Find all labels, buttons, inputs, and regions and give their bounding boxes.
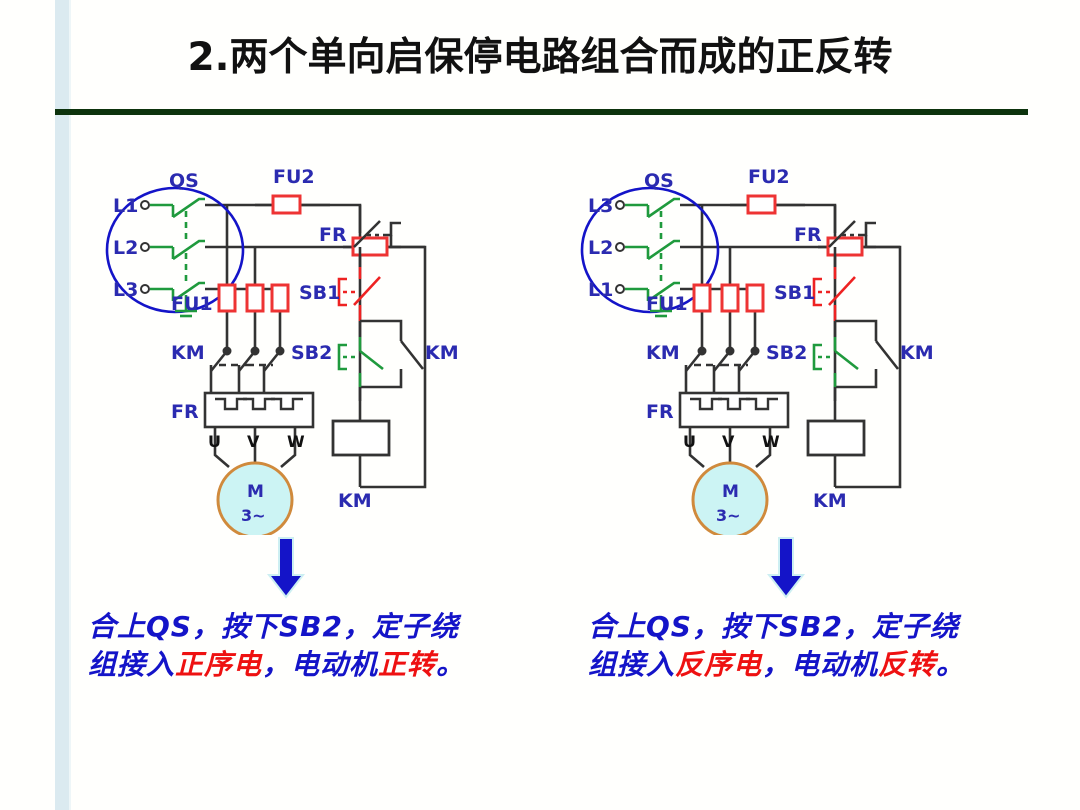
title-underline-rule	[55, 109, 1028, 115]
caption-reverse-line2-b: ，电动机	[762, 648, 878, 681]
km-main-label: KM	[646, 342, 680, 364]
fr-contact-label: FR	[794, 224, 822, 246]
motor-terminal-u: U	[208, 432, 221, 451]
fu1-fuses	[694, 285, 763, 311]
fu1-label: FU1	[171, 293, 213, 315]
motor-terminal-u: U	[683, 432, 696, 451]
caption-forward-line2: 组接入正序电，电动机正转。	[88, 646, 508, 684]
caption-reverse-line1: 合上QS，按下SB2，定子绕	[588, 608, 1008, 646]
reverse-rotation-circuit: L3 L2 L1 QS FU2 FU1	[570, 155, 1040, 535]
caption-reverse-line2-c: 。	[936, 648, 965, 681]
caption-reverse-line1-text: 合上QS，按下SB2，定子绕	[588, 610, 959, 643]
slide-canvas: 2.两个单向启保停电路组合而成的正反转	[0, 0, 1080, 810]
caption-reverse-line2-a: 组接入	[588, 648, 675, 681]
fu1-label: FU1	[646, 293, 688, 315]
caption-forward-highlight-1: 正序电	[175, 648, 262, 681]
control-parallel-node	[835, 321, 876, 387]
forward-rotation-circuit: L1 L2 L3 QS FU2 FU1	[95, 155, 565, 535]
caption-forward-line2-b: ，电动机	[262, 648, 378, 681]
sb2-label: SB2	[766, 342, 807, 364]
caption-forward-highlight-2: 正转	[378, 648, 436, 681]
motor-terminal-v: V	[247, 432, 260, 451]
fr-label: FR	[171, 401, 199, 423]
left-decorative-stripe-inner	[69, 0, 71, 810]
caption-forward-line2-c: 。	[436, 648, 465, 681]
fr-contact-label: FR	[319, 224, 347, 246]
phase-label-3: L3	[113, 279, 138, 301]
caption-forward-line1-text: 合上QS，按下SB2，定子绕	[88, 610, 459, 643]
caption-forward: 合上QS，按下SB2，定子绕 组接入正序电，电动机正转。	[88, 608, 508, 684]
sb1-label: SB1	[774, 282, 815, 304]
motor-symbol: M	[247, 482, 264, 502]
phase-label-2: L2	[113, 237, 138, 259]
caption-forward-line1: 合上QS，按下SB2，定子绕	[88, 608, 508, 646]
km-aux-contact[interactable]	[876, 341, 898, 369]
caption-reverse-highlight-2: 反转	[878, 648, 936, 681]
caption-forward-line2-a: 组接入	[88, 648, 175, 681]
caption-reverse-line2: 组接入反序电，电动机反转。	[588, 646, 1008, 684]
down-arrow-left	[266, 537, 306, 599]
qs-label: QS	[644, 170, 674, 192]
km-main-contacts[interactable]	[211, 348, 283, 399]
phase-terminals	[616, 201, 624, 293]
phase-label-3: L1	[588, 279, 613, 301]
km-aux-label: KM	[900, 342, 934, 364]
down-arrow-right	[766, 537, 806, 599]
phase-label-1: L3	[588, 195, 613, 217]
phase-terminals	[141, 201, 149, 293]
km-main-contacts[interactable]	[686, 348, 758, 399]
motor-phase-label: 3~	[241, 506, 266, 525]
left-decorative-stripe	[55, 0, 69, 810]
fr-label: FR	[646, 401, 674, 423]
phase-label-2: L2	[588, 237, 613, 259]
km-main-label: KM	[171, 342, 205, 364]
qs-label: QS	[169, 170, 199, 192]
km-coil-body	[333, 421, 389, 455]
km-coil-label: KM	[813, 490, 847, 512]
fu2-label: FU2	[273, 166, 315, 188]
caption-reverse: 合上QS，按下SB2，定子绕 组接入反序电，电动机反转。	[588, 608, 1008, 684]
km-coil-label: KM	[338, 490, 372, 512]
control-parallel-node	[360, 321, 401, 387]
sb2-label: SB2	[291, 342, 332, 364]
page-title: 2.两个单向启保停电路组合而成的正反转	[0, 26, 1080, 82]
motor-symbol: M	[722, 482, 739, 502]
fu1-fuses	[219, 285, 288, 311]
motor-terminal-w: W	[287, 432, 305, 451]
fu2-label: FU2	[748, 166, 790, 188]
km-coil-body	[808, 421, 864, 455]
km-aux-contact[interactable]	[401, 341, 423, 369]
motor-phase-label: 3~	[716, 506, 741, 525]
motor-terminal-w: W	[762, 432, 780, 451]
km-aux-label: KM	[425, 342, 459, 364]
motor-terminal-v: V	[722, 432, 735, 451]
sb1-label: SB1	[299, 282, 340, 304]
caption-reverse-highlight-1: 反序电	[675, 648, 762, 681]
phase-label-1: L1	[113, 195, 138, 217]
